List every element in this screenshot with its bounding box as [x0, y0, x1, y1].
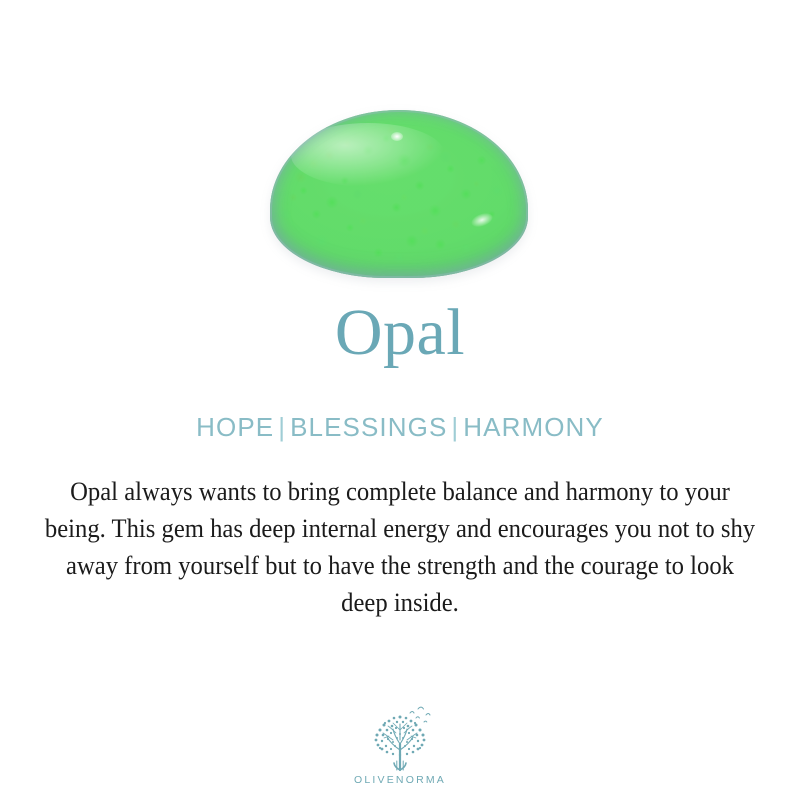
birds-icon — [410, 707, 430, 722]
brand-logo[interactable]: OLIVENORMA — [0, 704, 800, 786]
keyword-harmony: HARMONY — [463, 412, 604, 442]
opal-cabochon-image — [270, 110, 528, 278]
keyword-separator-1: | — [274, 412, 290, 442]
tree-icon — [363, 704, 437, 772]
brand-wordmark: OLIVENORMA — [354, 774, 446, 786]
keyword-hope: HOPE — [196, 412, 274, 442]
page-title: Opal — [335, 300, 465, 366]
gem-image-area — [0, 0, 800, 300]
description-text: Opal always wants to bring complete bala… — [43, 443, 757, 621]
keyword-subtitle: HOPE|BLESSINGS|HARMONY — [196, 366, 604, 443]
gemstone-info-card: Opal HOPE|BLESSINGS|HARMONY Opal always … — [0, 0, 800, 800]
keyword-blessings: BLESSINGS — [290, 412, 447, 442]
keyword-separator-2: | — [447, 412, 463, 442]
gem-specular-highlight — [391, 132, 403, 141]
gem-body — [270, 110, 528, 278]
